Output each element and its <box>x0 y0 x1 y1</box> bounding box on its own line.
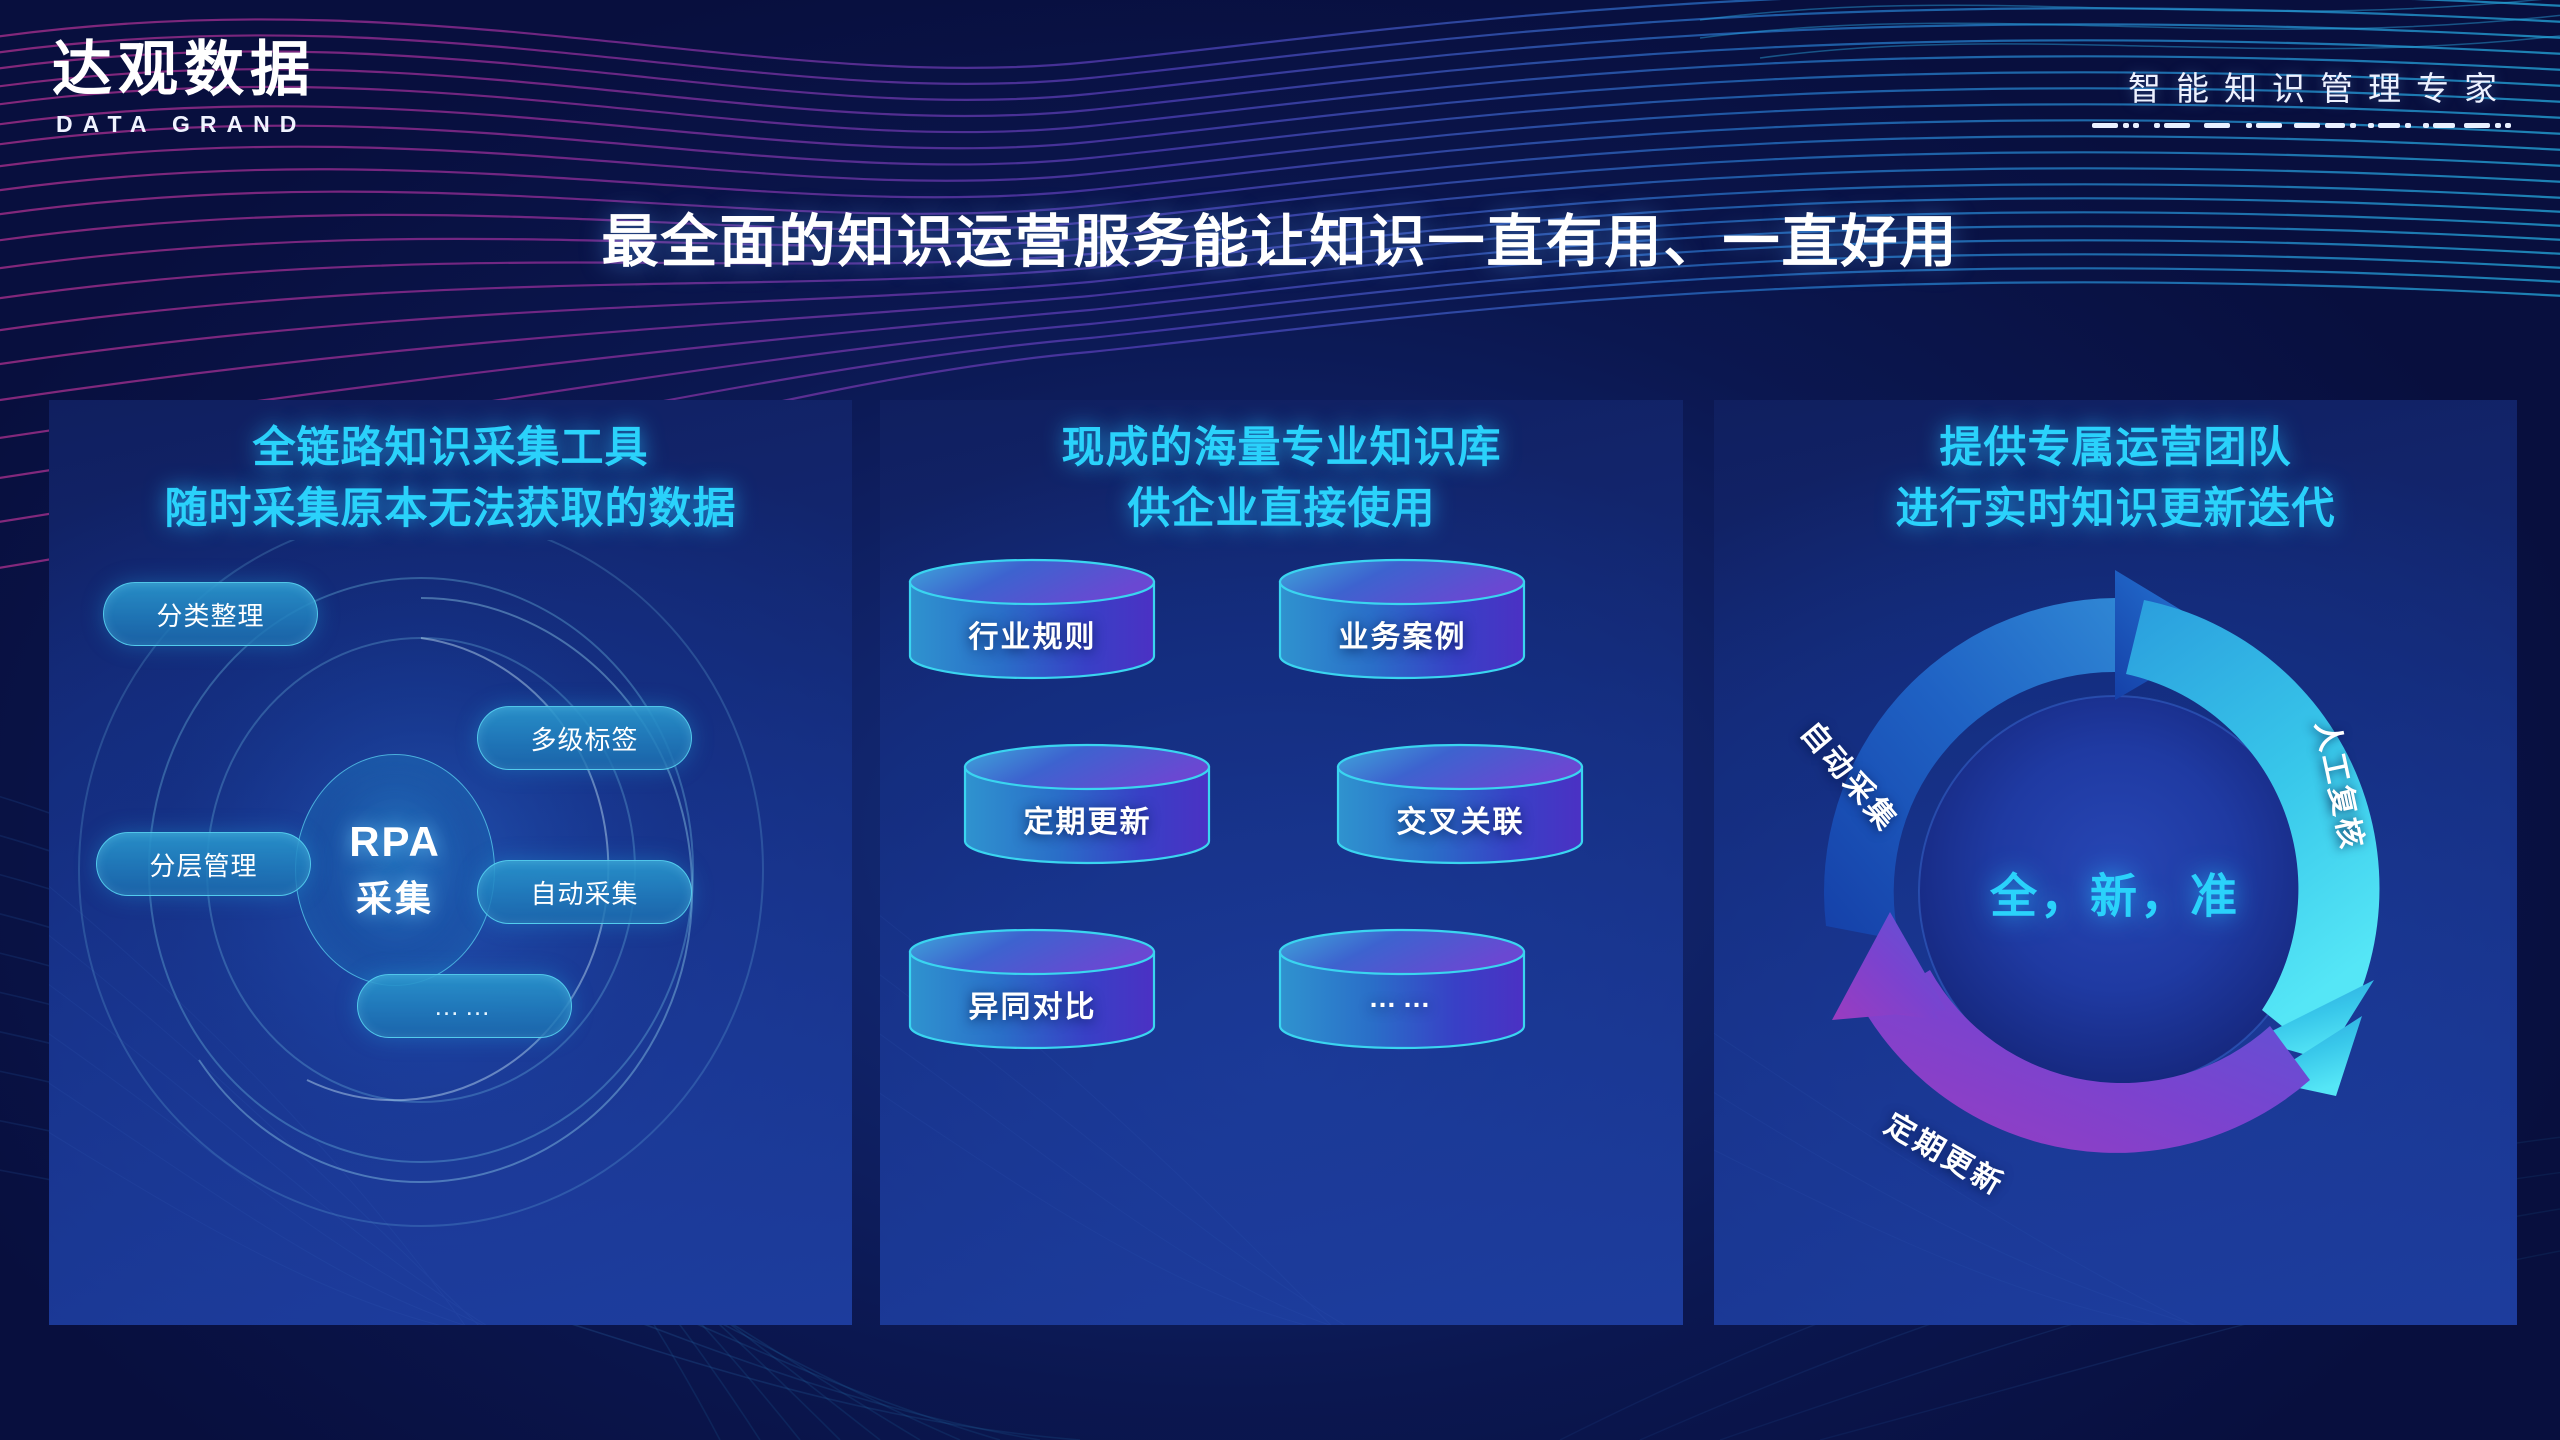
cylinder-2-label: 业务案例 <box>1280 612 1525 656</box>
tagline: 智能知识管理专家 <box>2092 62 2512 135</box>
card-operations-team-diagram: 自动采集 人工复核 定期更新 全，新，准 <box>1714 540 2517 1260</box>
card-knowledge-base-heading-line2: 供企业直接使用 <box>880 479 1683 540</box>
card-collect-heading-line1: 全链路知识采集工具 <box>49 418 852 479</box>
orbit-node-2-label: 多级标签 <box>530 720 638 757</box>
card-collect-heading: 全链路知识采集工具 随时采集原本无法获取的数据 <box>49 400 852 540</box>
tagline-text: 智能知识管理专家 <box>2092 62 2512 110</box>
card-collect-heading-line2: 随时采集原本无法获取的数据 <box>49 479 852 540</box>
cylinder-4-label: 交叉关联 <box>1338 797 1583 841</box>
card-collect-diagram: RPA 采集 分类整理 多级标签 分层管理 自动采集 …… <box>49 540 852 1260</box>
card-knowledge-base[interactable]: 现成的海量专业知识库 供企业直接使用 <box>880 400 1683 1325</box>
cylinder-5[interactable]: 异同对比 <box>910 930 1155 1063</box>
cylinder-2[interactable]: 业务案例 <box>1280 560 1525 693</box>
cylinder-3[interactable]: 定期更新 <box>965 745 1210 878</box>
cylinder-1-label: 行业规则 <box>910 612 1155 656</box>
morse-decoration-icon <box>2092 121 2512 130</box>
brand-logo[interactable]: 达观数据 DATA GRAND <box>52 38 316 138</box>
logo-english-text: DATA GRAND <box>56 111 316 138</box>
cylinder-6[interactable]: …… <box>1280 930 1525 1063</box>
page-title: 最全面的知识运营服务能让知识一直有用、一直好用 <box>0 196 2560 278</box>
orbit-node-2[interactable]: 多级标签 <box>477 706 692 770</box>
orbit-center-line2: 采集 <box>356 870 434 922</box>
card-operations-team-heading-line2: 进行实时知识更新迭代 <box>1714 479 2517 540</box>
cycle-center-label: 全，新，准 <box>1990 858 2240 927</box>
cylinder-4[interactable]: 交叉关联 <box>1338 745 1583 878</box>
card-operations-team-heading: 提供专属运营团队 进行实时知识更新迭代 <box>1714 400 2517 540</box>
card-knowledge-base-heading: 现成的海量专业知识库 供企业直接使用 <box>880 400 1683 540</box>
orbit-node-4[interactable]: 自动采集 <box>477 860 692 924</box>
card-knowledge-base-diagram: 行业规则 业务案例 定期更新 交叉关联 异同对比 …… <box>880 540 1683 1260</box>
cylinder-1[interactable]: 行业规则 <box>910 560 1155 693</box>
orbit-node-1[interactable]: 分类整理 <box>103 582 318 646</box>
orbit-node-3-label: 分层管理 <box>149 846 257 883</box>
orbit-node-5-label: …… <box>434 991 496 1022</box>
cylinder-5-label: 异同对比 <box>910 982 1155 1026</box>
card-knowledge-base-heading-line1: 现成的海量专业知识库 <box>880 418 1683 479</box>
card-operations-team[interactable]: 提供专属运营团队 进行实时知识更新迭代 <box>1714 400 2517 1325</box>
orbit-center-node[interactable]: RPA 采集 <box>295 754 495 986</box>
orbit-node-3[interactable]: 分层管理 <box>96 832 311 896</box>
card-operations-team-heading-line1: 提供专属运营团队 <box>1714 418 2517 479</box>
cylinder-6-label: …… <box>1280 982 1525 1014</box>
orbit-node-5[interactable]: …… <box>357 974 572 1038</box>
logo-chinese-text: 达观数据 <box>52 38 316 103</box>
cylinder-3-label: 定期更新 <box>965 797 1210 841</box>
orbit-node-4-label: 自动采集 <box>530 874 638 911</box>
orbit-center-line1: RPA <box>349 818 441 866</box>
card-collect[interactable]: 全链路知识采集工具 随时采集原本无法获取的数据 <box>49 400 852 1325</box>
orbit-node-1-label: 分类整理 <box>156 596 264 633</box>
